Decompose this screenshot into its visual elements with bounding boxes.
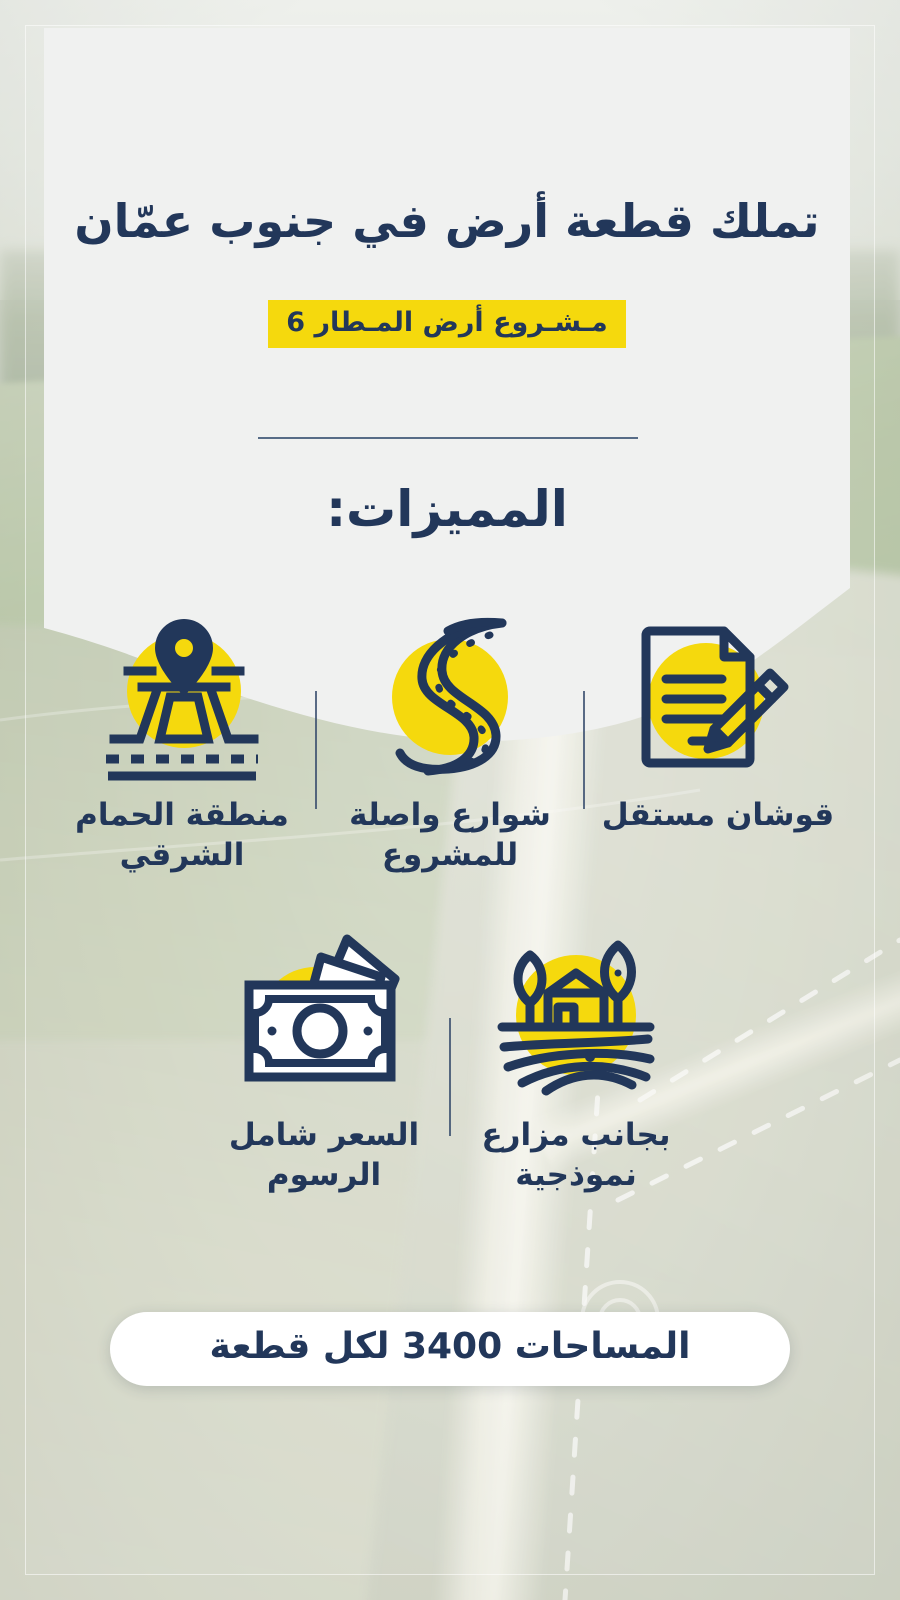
area-banner-text: المساحات 3400 لكل قطعة [210, 1329, 691, 1369]
feature-label-3: منطقة الحمام الشرقي [62, 796, 302, 875]
features-row-1: منطقة الحمام الشرقي [0, 608, 900, 875]
feature-label-5: السعر شامل الرسوم [204, 1116, 444, 1195]
feature-label-4: بجانب مزارع نموذجية [456, 1116, 696, 1195]
feature-item-3: منطقة الحمام الشرقي [49, 608, 315, 875]
map-pin-land-icon [96, 608, 268, 788]
feature-item-1: قوشان مستقل [585, 608, 851, 836]
feature-separator-1 [315, 691, 317, 809]
feature-label-2: شوارع واصلة للمشروع [330, 796, 570, 875]
feature-separator-3 [449, 1018, 451, 1136]
features-heading: المميزات: [44, 480, 850, 538]
page-title: تملك قطعة أرض في جنوب عمّان [44, 193, 850, 251]
feature-item-5: السعر شامل الرسوم [199, 928, 449, 1195]
poster-canvas: تملك قطعة أرض في جنوب عمّان مـشـروع أرض … [0, 0, 900, 1600]
project-name-badge: مـشـروع أرض المـطار 6 [268, 300, 626, 348]
section-divider [258, 437, 638, 439]
features-row-2: السعر شامل الرسوم [0, 928, 900, 1195]
feature-separator-2 [583, 691, 585, 809]
banknotes-icon [229, 928, 419, 1108]
farm-field-icon [486, 928, 666, 1108]
subtitle-container: مـشـروع أرض المـطار 6 [44, 300, 850, 348]
document-pen-icon [634, 608, 802, 788]
feature-item-4: بجانب مزارع نموذجية [451, 928, 701, 1195]
winding-road-icon [362, 608, 538, 788]
area-banner: المساحات 3400 لكل قطعة [110, 1312, 790, 1386]
feature-item-2: شوارع واصلة للمشروع [317, 608, 583, 875]
feature-label-1: قوشان مستقل [602, 796, 835, 836]
